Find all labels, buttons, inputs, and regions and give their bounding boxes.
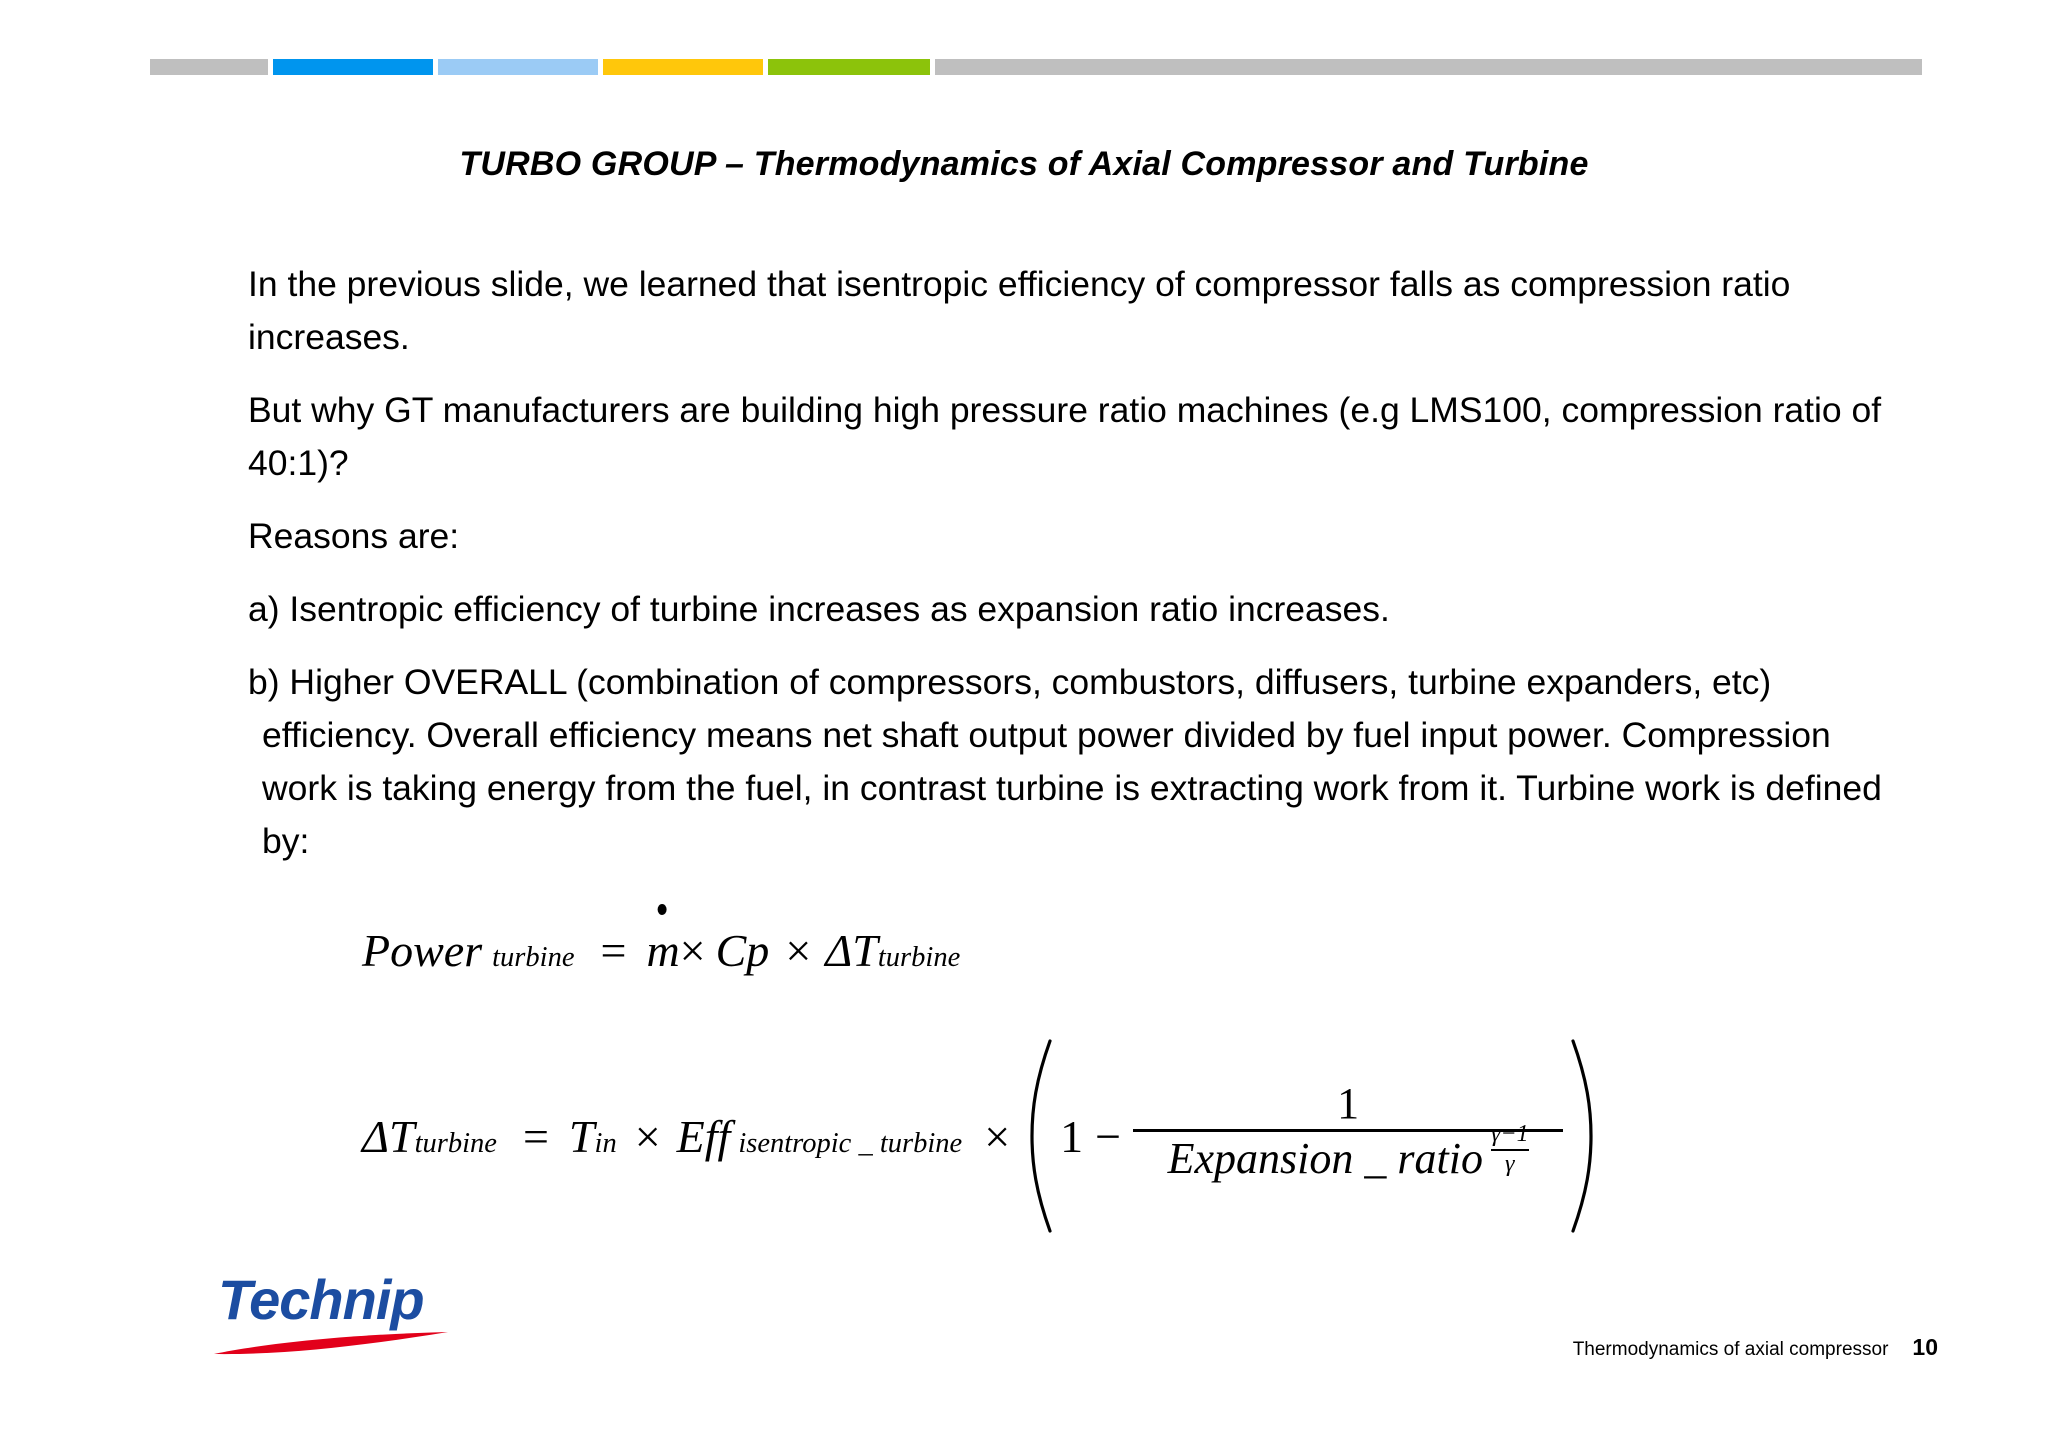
eq2-times-1: × bbox=[635, 1110, 661, 1163]
eq1-power-subscript: turbine bbox=[492, 944, 574, 973]
eq2-fraction-denominator-row: Expansion _ ratio γ−1 γ bbox=[1168, 1132, 1529, 1190]
paragraph-question: But why GT manufacturers are building hi… bbox=[248, 384, 1888, 490]
color-bar-segment-green bbox=[768, 59, 930, 75]
technip-logo-swoosh-icon bbox=[212, 1330, 450, 1356]
equation-turbine-power: Power turbine = m × Cp × ΔT turbine bbox=[362, 928, 960, 974]
eq2-one: 1 bbox=[1060, 1110, 1083, 1163]
eq1-mass-flow-rate: m bbox=[646, 928, 679, 974]
equation-turbine-delta-t: ΔT turbine = T in × Eff isentropic _ tur… bbox=[362, 1038, 1595, 1234]
eq1-delta-t-subscript: turbine bbox=[878, 944, 960, 973]
eq1-specific-heat: Cp bbox=[716, 928, 770, 974]
right-paren-icon bbox=[1569, 1038, 1595, 1234]
eq2-eff: Eff bbox=[677, 1110, 731, 1163]
eq1-delta-t: ΔT bbox=[825, 928, 878, 974]
eq2-exponent-fraction: γ−1 γ bbox=[1491, 1122, 1529, 1176]
left-paren-icon bbox=[1028, 1038, 1054, 1234]
technip-logo-wordmark: Technip bbox=[218, 1272, 424, 1328]
eq2-delta-t: ΔT bbox=[362, 1110, 415, 1163]
paragraph-reasons-heading: Reasons are: bbox=[248, 510, 1888, 563]
eq2-eff-subscript: isentropic _ turbine bbox=[738, 1128, 962, 1160]
color-bar-segment-blue bbox=[273, 59, 433, 75]
paragraph-reason-b: b) Higher OVERALL (combination of compre… bbox=[248, 656, 1888, 868]
technip-logo: Technip bbox=[218, 1272, 450, 1358]
eq2-fraction: 1 Expansion _ ratio γ−1 γ bbox=[1133, 1081, 1563, 1191]
slide-footer: Thermodynamics of axial compressor 10 bbox=[1573, 1334, 1938, 1361]
footer-label: Thermodynamics of axial compressor bbox=[1573, 1339, 1889, 1361]
decorative-color-bar bbox=[150, 59, 1922, 75]
color-bar-segment-yellow bbox=[603, 59, 763, 75]
eq1-times-2: × bbox=[785, 928, 811, 974]
eq2-parenthesized-group: 1 − 1 Expansion _ ratio γ−1 γ bbox=[1028, 1038, 1595, 1234]
eq2-expansion-ratio: Expansion _ ratio bbox=[1168, 1136, 1483, 1182]
color-bar-segment-gray-left bbox=[150, 59, 268, 75]
paragraph-intro: In the previous slide, we learned that i… bbox=[248, 258, 1888, 364]
eq2-exponent-denominator: γ bbox=[1505, 1151, 1514, 1177]
eq2-minus: − bbox=[1095, 1110, 1121, 1163]
eq1-equals: = bbox=[600, 928, 626, 974]
eq2-t-in-subscript: in bbox=[595, 1128, 617, 1160]
paragraph-reason-a: a) Isentropic efficiency of turbine incr… bbox=[248, 583, 1888, 636]
color-bar-segment-light-blue bbox=[438, 59, 598, 75]
color-bar-segment-gray-right bbox=[935, 59, 1922, 75]
eq2-exponent-numerator: γ−1 bbox=[1491, 1122, 1529, 1148]
page-number: 10 bbox=[1912, 1334, 1938, 1361]
eq2-fraction-numerator: 1 bbox=[1337, 1081, 1359, 1129]
eq2-delta-t-subscript: turbine bbox=[415, 1128, 497, 1160]
slide-body: In the previous slide, we learned that i… bbox=[248, 258, 1888, 868]
eq2-times-2: × bbox=[984, 1110, 1010, 1163]
eq1-times-1: × bbox=[680, 928, 706, 974]
eq1-power-symbol: Power bbox=[362, 928, 482, 974]
page-title: TURBO GROUP – Thermodynamics of Axial Co… bbox=[0, 145, 2048, 184]
eq2-equals: = bbox=[523, 1110, 549, 1163]
eq2-t-in: T bbox=[569, 1110, 595, 1163]
